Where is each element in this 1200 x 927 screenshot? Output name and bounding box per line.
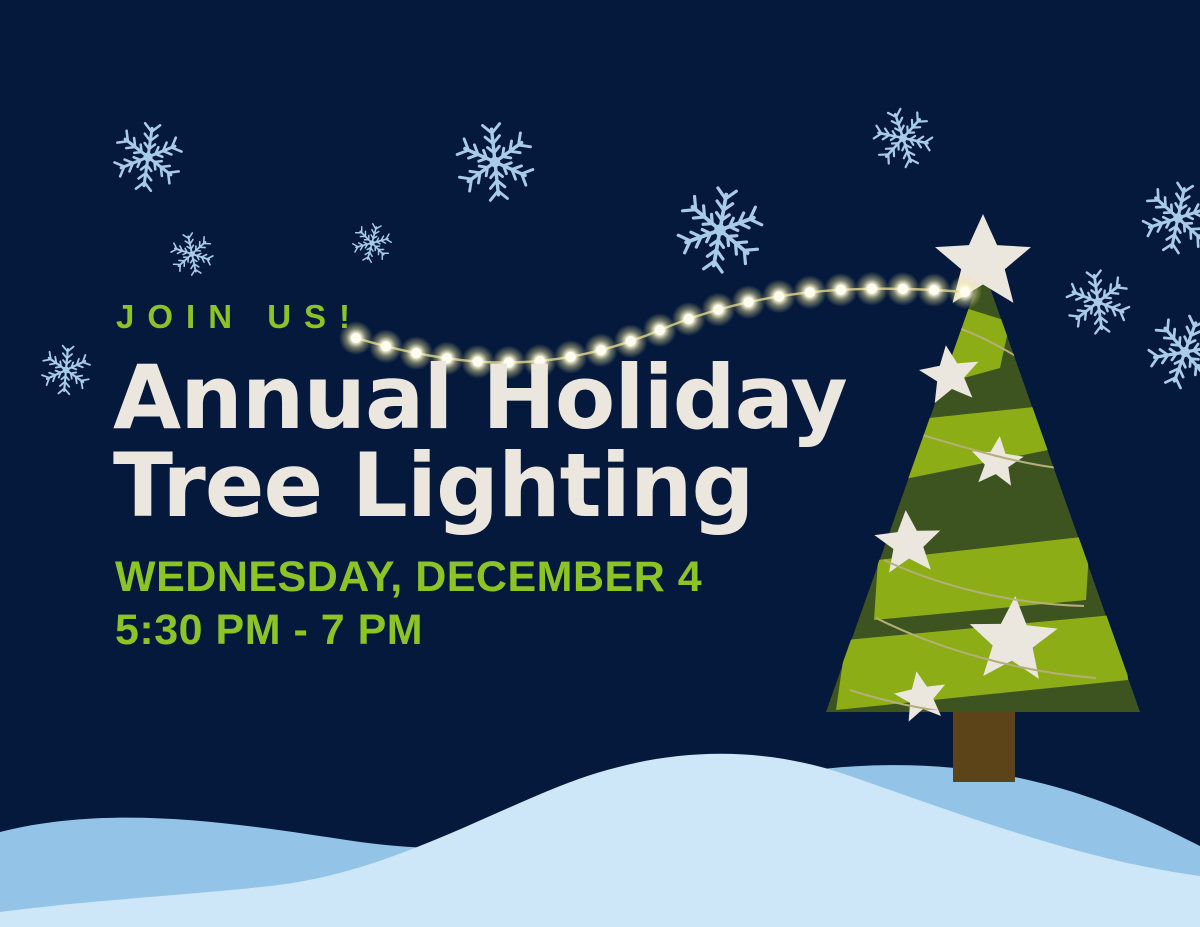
garland-bulb — [948, 275, 982, 309]
event-time: 5:30 PM - 7 PM — [115, 604, 893, 656]
event-details: WEDNESDAY, DECEMBER 4 5:30 PM - 7 PM — [115, 551, 893, 656]
headline-line-2: Tree Lighting — [113, 443, 893, 529]
garland-bulb — [917, 273, 951, 307]
headline-line-1: Annual Holiday — [113, 355, 893, 441]
holiday-tree-lighting-poster: JOIN US! Annual Holiday Tree Lighting WE… — [0, 0, 1200, 927]
page-title: Annual Holiday Tree Lighting — [113, 355, 893, 529]
event-date: WEDNESDAY, DECEMBER 4 — [115, 551, 893, 603]
poster-text-block: JOIN US! Annual Holiday Tree Lighting WE… — [113, 300, 893, 656]
eyebrow-join-us: JOIN US! — [116, 300, 893, 333]
